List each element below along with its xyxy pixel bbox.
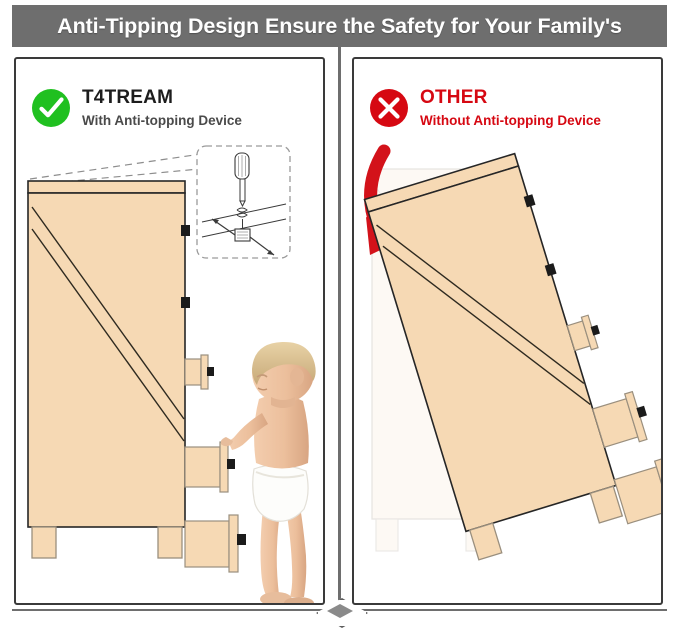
panel-without-anti-tip: OTHER Without Anti-topping Device: [352, 57, 663, 605]
open-drawer: [613, 456, 663, 528]
center-divider: [338, 46, 341, 611]
panel-right-illustration: [354, 59, 661, 603]
panel-with-anti-tip: T4TREAM With Anti-topping Device: [14, 57, 325, 605]
anti-tip-device-callout: [197, 146, 290, 258]
child-figure-left: [221, 341, 325, 605]
anti-tip-bracket-icon: [235, 229, 250, 241]
open-drawer: [185, 355, 214, 389]
page-title: Anti-Tipping Design Ensure the Safety fo…: [57, 14, 622, 39]
drawer-handle-icon: [181, 225, 190, 236]
header-bar: Anti-Tipping Design Ensure the Safety fo…: [12, 5, 667, 47]
drawer-handle-icon: [181, 297, 190, 308]
